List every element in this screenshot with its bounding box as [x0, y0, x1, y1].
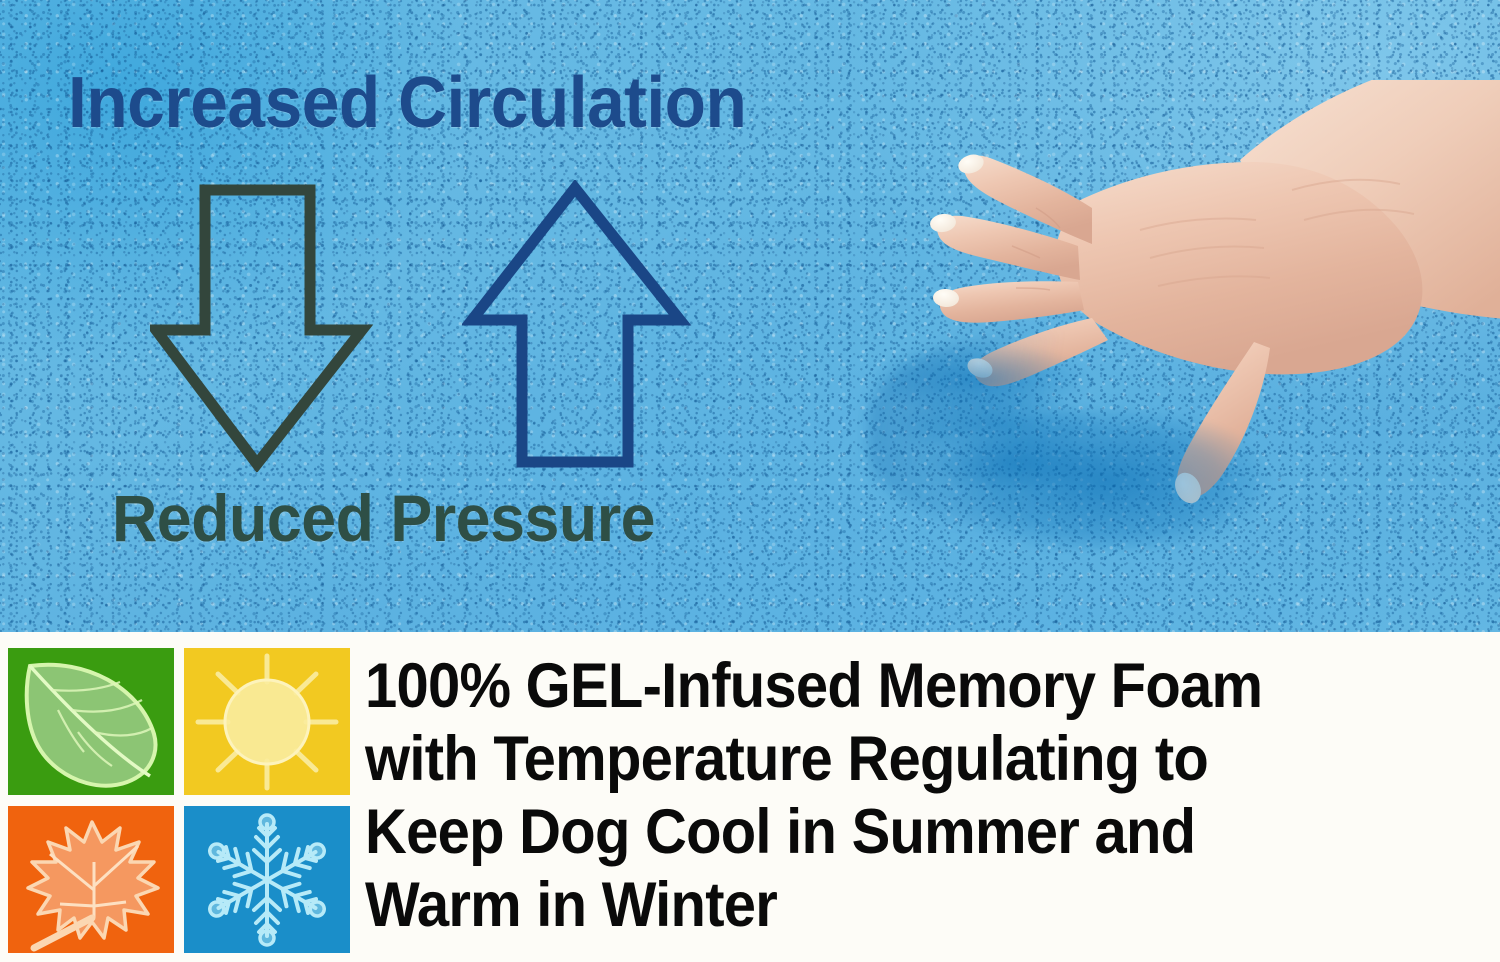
handprint-shadow: [868, 330, 1268, 530]
maple-leaf-icon: [8, 806, 174, 953]
handprint-impression: [870, 320, 1300, 550]
headline-reduced-pressure: Reduced Pressure: [112, 480, 655, 556]
tile-winter-snow: [184, 806, 350, 953]
sun-icon: [184, 648, 350, 795]
tile-summer-sun: [184, 648, 350, 795]
copy-line-4: Warm in Winter: [365, 869, 1409, 942]
headline-increased-circulation: Increased Circulation: [68, 62, 746, 144]
snowflake-icon: [184, 806, 350, 953]
memory-foam-photo: Increased Circulation Reduced Pressure: [0, 0, 1500, 632]
feature-copy: 100% GEL-Infused Memory Foam with Temper…: [365, 650, 1500, 942]
tile-autumn-leaf: [8, 806, 174, 953]
tile-spring-leaf: [8, 648, 174, 795]
copy-line-3: Keep Dog Cool in Summer and: [365, 796, 1409, 869]
copy-line-2: with Temperature Regulating to: [365, 723, 1409, 796]
feature-panel: 100% GEL-Infused Memory Foam with Temper…: [0, 632, 1500, 962]
hand-pressing-foam: [840, 80, 1500, 550]
up-arrow-icon: [462, 180, 692, 475]
leaf-icon: [8, 648, 174, 795]
season-icon-grid: [8, 648, 350, 953]
product-feature-poster: Increased Circulation Reduced Pressure: [0, 0, 1500, 962]
hand-illustration: [840, 80, 1500, 550]
down-arrow-icon: [150, 182, 380, 477]
copy-line-1: 100% GEL-Infused Memory Foam: [365, 650, 1409, 723]
